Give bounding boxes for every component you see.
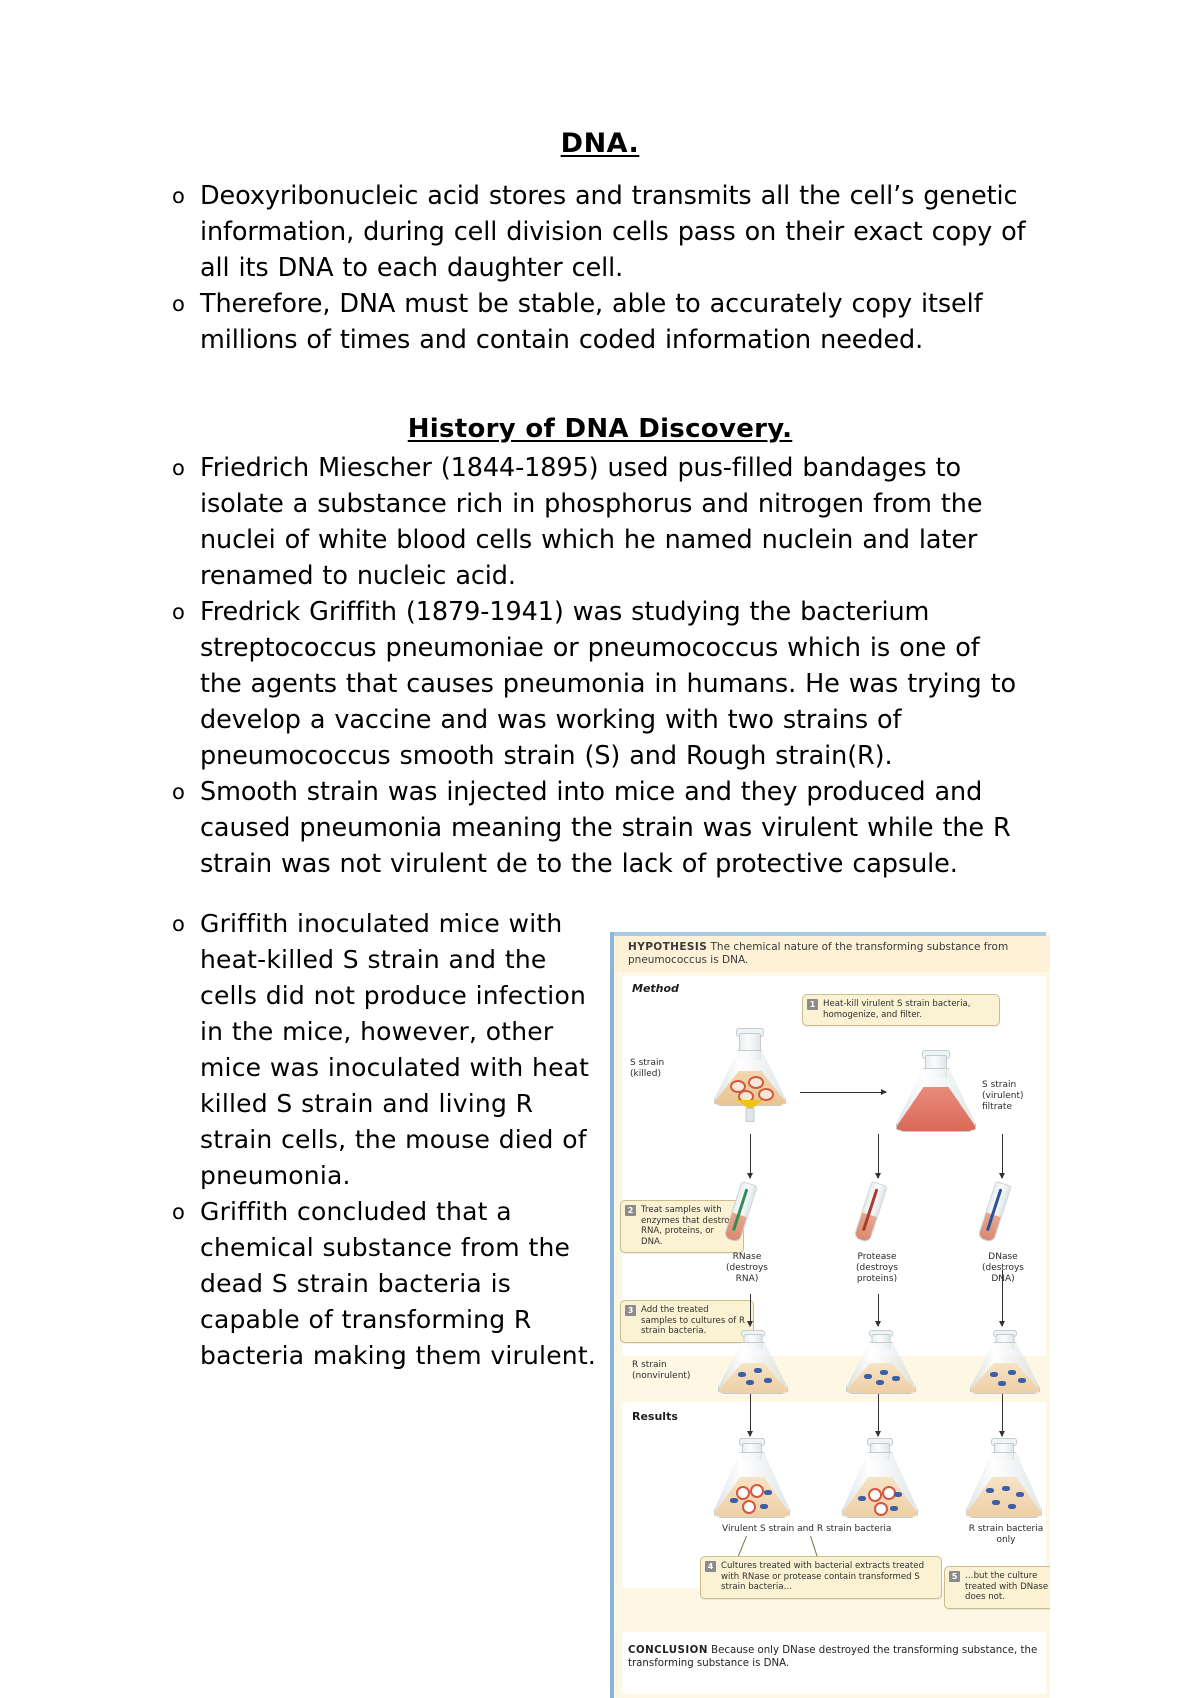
culture-arrow-middle (878, 1294, 879, 1326)
flask-body (970, 1342, 1040, 1394)
s-strain-cell (736, 1486, 750, 1500)
hypothesis-text: HYPOTHESIS The chemical nature of the tr… (628, 941, 1044, 967)
r-strain-cell (998, 1381, 1006, 1386)
conclusion-text: CONCLUSION Because only DNase destroyed … (628, 1644, 1042, 1670)
step-4-text: Cultures treated with bacterial extracts… (721, 1561, 924, 1592)
step-5-text: …but the culture treated with DNase does… (965, 1571, 1048, 1602)
step-2-text: Treat samples with enzymes that destroy … (641, 1205, 735, 1247)
step-1-callout: 1 Heat-kill virulent S strain bacteria, … (802, 994, 1000, 1026)
label-rnase: RNase (destroys RNA) (710, 1252, 784, 1285)
bullet-marker: o (172, 906, 185, 942)
branch-arrow-right (1002, 1134, 1003, 1178)
list-item-text: Griffith inoculated mice with heat-kille… (200, 909, 589, 1190)
section-title: History of DNA Discovery. (0, 414, 1200, 444)
list-item: o Friedrich Miescher (1844-1895) used pu… (148, 450, 1028, 594)
results-label: Results (632, 1410, 678, 1423)
r-strain-cell (1008, 1370, 1016, 1375)
narrow-bullet-list: o Griffith inoculated mice with heat-kil… (148, 906, 600, 1374)
culture-flask-left (718, 1330, 788, 1392)
culture-flask-right (970, 1330, 1040, 1392)
s-strain-cell (742, 1500, 756, 1514)
filtration-arrow (800, 1092, 886, 1093)
document-page: DNA. o Deoxyribonucleic acid stores and … (0, 0, 1200, 1698)
list-item: o Smooth strain was injected into mice a… (148, 774, 1028, 882)
r-strain-cell (858, 1496, 866, 1501)
r-strain-cell (764, 1378, 772, 1383)
r-strain-cell (1008, 1504, 1016, 1509)
list-item: o Therefore, DNA must be stable, able to… (148, 286, 1028, 358)
history-bullet-list: o Friedrich Miescher (1844-1895) used pu… (148, 450, 1028, 882)
list-item: o Griffith inoculated mice with heat-kil… (148, 906, 600, 1194)
hypothesis-label: HYPOTHESIS (628, 941, 707, 953)
r-strain-cell (764, 1490, 772, 1495)
method-panel (622, 976, 1046, 1356)
list-item-text: Friedrich Miescher (1844-1895) used pus-… (200, 453, 982, 591)
label-dnase: DNase (destroys DNA) (966, 1252, 1040, 1285)
label-result-right: R strain bacteria only (966, 1524, 1046, 1546)
culture-arrow-right (1002, 1270, 1003, 1326)
flask-body (966, 1452, 1042, 1518)
list-item-text: Smooth strain was injected into mice and… (200, 777, 1011, 879)
label-result-left: Virulent S strain and R strain bacteria (722, 1524, 946, 1535)
s-strain-cell (758, 1088, 774, 1101)
r-strain-cell (1002, 1486, 1010, 1491)
step-2-callout: 2 Treat samples with enzymes that destro… (620, 1200, 744, 1253)
label-s-strain-killed: S strain (killed) (630, 1058, 700, 1080)
list-item-text: Griffith concluded that a chemical subst… (200, 1197, 596, 1370)
r-strain-cell (754, 1368, 762, 1373)
r-strain-cell (760, 1504, 768, 1509)
intro-bullet-list: o Deoxyribonucleic acid stores and trans… (148, 178, 1028, 358)
r-strain-cell (876, 1380, 884, 1385)
step-4-callout: 4 Cultures treated with bacterial extrac… (700, 1556, 942, 1599)
result-flask-middle (842, 1438, 918, 1516)
funnel-flask (714, 1028, 786, 1120)
flask-fluid (971, 1363, 1039, 1393)
step-3-number: 3 (625, 1305, 636, 1316)
r-strain-cell (890, 1506, 898, 1511)
step-1-number: 1 (807, 999, 818, 1010)
funnel-stem (746, 1108, 755, 1122)
r-strain-cell (892, 1376, 900, 1381)
label-s-strain-filtrate: S strain (virulent) filtrate (982, 1080, 1048, 1113)
branch-arrow-middle (878, 1134, 879, 1178)
flask-fluid (967, 1477, 1041, 1517)
list-item-text: Therefore, DNA must be stable, able to a… (200, 289, 982, 355)
step-4-number: 4 (705, 1561, 716, 1572)
r-strain-cell (1018, 1378, 1026, 1383)
bullet-marker: o (172, 774, 185, 810)
experiment-figure: HYPOTHESIS The chemical nature of the tr… (610, 932, 1050, 1698)
branch-arrow-left (750, 1134, 751, 1178)
bullet-marker: o (172, 178, 185, 214)
filtrate-flask (896, 1050, 976, 1130)
r-strain-cell (990, 1372, 998, 1377)
list-item: o Griffith concluded that a chemical sub… (148, 1194, 600, 1374)
results-arrow-right (1002, 1394, 1003, 1436)
conclusion-label: CONCLUSION (628, 1645, 708, 1656)
step-5-number: 5 (949, 1571, 960, 1582)
list-item: o Fredrick Griffith (1879-1941) was stud… (148, 594, 1028, 774)
list-item-text: Fredrick Griffith (1879-1941) was studyi… (200, 597, 1016, 771)
list-item-text: Deoxyribonucleic acid stores and transmi… (200, 181, 1026, 283)
result-flask-right (966, 1438, 1042, 1516)
r-strain-cell (730, 1498, 738, 1503)
results-arrow-left (750, 1394, 751, 1436)
flask-body (846, 1342, 916, 1394)
label-protease: Protease (destroys proteins) (840, 1252, 914, 1285)
flask-body (718, 1342, 788, 1394)
page-title: DNA. (0, 128, 1200, 159)
results-arrow-middle (878, 1394, 879, 1436)
r-strain-cell (992, 1500, 1000, 1505)
culture-arrow-left (750, 1294, 751, 1326)
culture-flask-middle (846, 1330, 916, 1392)
method-label: Method (632, 982, 679, 995)
s-strain-cell (750, 1484, 764, 1498)
r-strain-cell (1016, 1492, 1024, 1497)
bullet-marker: o (172, 450, 185, 486)
r-strain-cell (894, 1492, 902, 1497)
step-1-text: Heat-kill virulent S strain bacteria, ho… (823, 999, 970, 1020)
flask-body (896, 1068, 976, 1132)
bullet-marker: o (172, 286, 185, 322)
r-strain-cell (864, 1374, 872, 1379)
s-strain-cell (874, 1502, 888, 1516)
flask-fluid (719, 1363, 787, 1393)
flask-fluid (897, 1087, 975, 1131)
label-r-strain: R strain (nonvirulent) (632, 1360, 720, 1382)
step-2-number: 2 (625, 1205, 636, 1216)
r-strain-cell (880, 1370, 888, 1375)
r-strain-cell (746, 1380, 754, 1385)
flask-fluid (847, 1363, 915, 1393)
result-flask-left (714, 1438, 790, 1516)
r-strain-cell (738, 1372, 746, 1377)
s-strain-cell (748, 1076, 764, 1089)
bullet-marker: o (172, 1194, 185, 1230)
step-5-callout: 5 …but the culture treated with DNase do… (944, 1566, 1050, 1609)
bullet-marker: o (172, 594, 185, 630)
s-strain-cell (868, 1488, 882, 1502)
r-strain-cell (986, 1488, 994, 1493)
list-item: o Deoxyribonucleic acid stores and trans… (148, 178, 1028, 286)
